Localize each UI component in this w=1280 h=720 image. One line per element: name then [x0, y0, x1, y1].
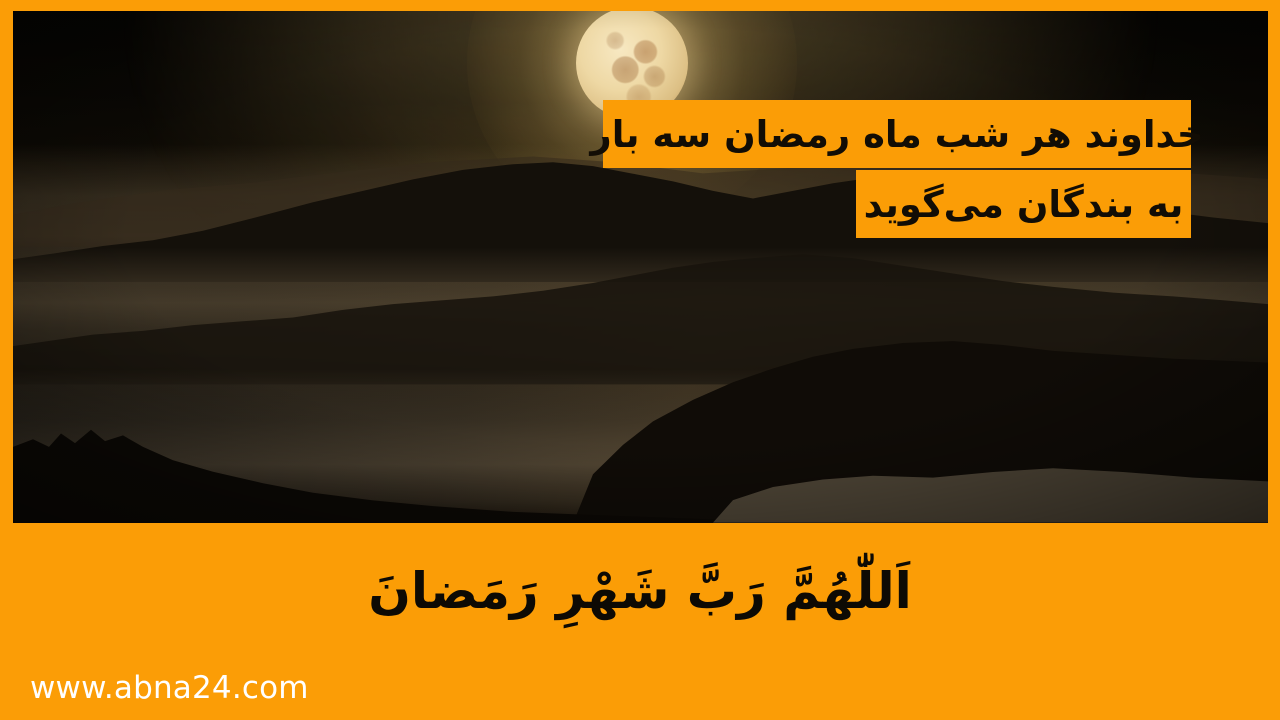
headline-banner-line-2: به بندگان می‌گوید: [856, 170, 1191, 238]
photo-vignette: [13, 11, 1268, 523]
headline-banner-line-1: خداوند هر شب ماه رمضان سه بار: [603, 100, 1191, 168]
moonlit-mountains-photo: [13, 11, 1268, 523]
ramadan-poster: خداوند هر شب ماه رمضان سه بار به بندگان …: [0, 0, 1280, 720]
dua-arabic-text: اَللّٰهُمَّ رَبَّ شَهْرِ رَمَضانَ: [0, 560, 1280, 623]
site-url-label: www.abna24.com: [30, 670, 309, 706]
